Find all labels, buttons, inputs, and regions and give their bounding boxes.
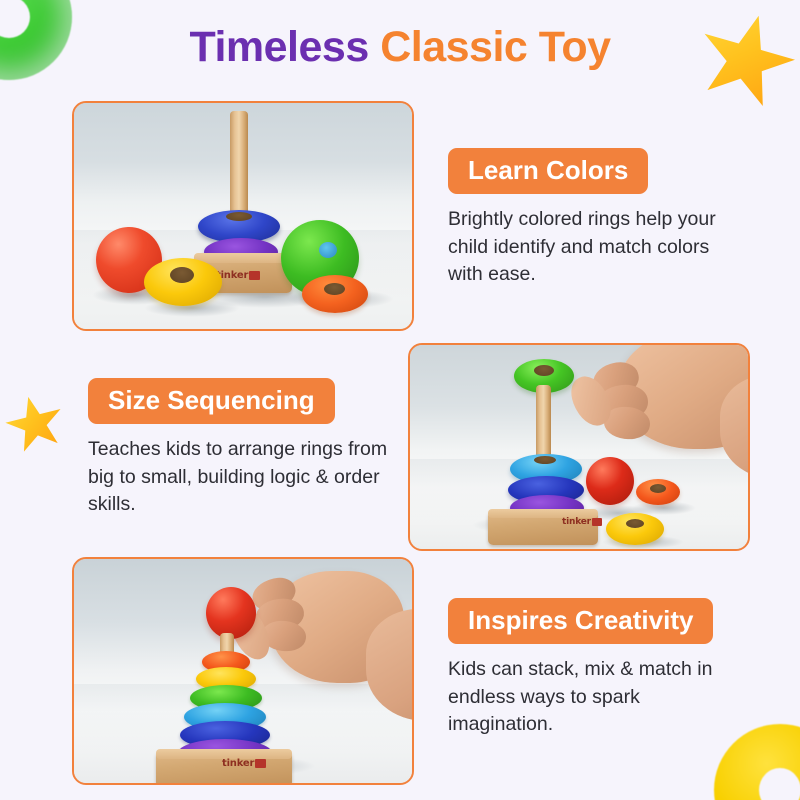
- ring-green-hole: [534, 365, 554, 376]
- brand-mark-icon: [592, 518, 602, 526]
- product-photo-size-sequencing: tinker: [408, 343, 750, 551]
- poster-canvas: Timeless Classic Toy tinker: [0, 0, 800, 800]
- brand-mark-icon: [255, 759, 266, 768]
- brand-logo: tinker: [222, 758, 266, 769]
- badge-size-sequencing: Size Sequencing: [88, 378, 335, 424]
- ring-yellow-hole: [170, 267, 194, 283]
- wooden-base-top: [194, 253, 292, 263]
- ring-blue-hole: [226, 212, 252, 221]
- photo-content: tinker: [74, 559, 412, 783]
- ring-light-blue-hole: [534, 456, 556, 464]
- desc-learn-colors: Brightly colored rings help your child i…: [448, 206, 748, 289]
- ball-red: [586, 457, 634, 505]
- photo-content: tinker: [74, 103, 412, 329]
- yellow-star-small-icon: [0, 390, 70, 458]
- brand-logo: tinker: [216, 270, 260, 281]
- title-part-purple: Timeless: [189, 23, 380, 71]
- wooden-peg: [230, 111, 248, 223]
- photo-content: tinker: [410, 345, 748, 549]
- badge-learn-colors: Learn Colors: [448, 148, 648, 194]
- brand-name: tinker: [222, 758, 254, 769]
- feature-size-sequencing: Size Sequencing Teaches kids to arrange …: [88, 378, 398, 519]
- brand-logo: tinker: [562, 517, 602, 527]
- feature-inspires-creativity: Inspires Creativity Kids can stack, mix …: [448, 598, 768, 739]
- ring-green-hole: [319, 242, 337, 258]
- title-part-orange: Classic Toy: [380, 23, 610, 71]
- ring-orange-hole: [324, 283, 345, 295]
- ring-yellow-loose: [606, 513, 664, 545]
- badge-inspires-creativity: Inspires Creativity: [448, 598, 713, 644]
- product-photo-learn-colors: tinker: [72, 101, 414, 331]
- product-photo-inspires-creativity: tinker: [72, 557, 414, 785]
- ring-orange-hole: [650, 484, 666, 493]
- feature-learn-colors: Learn Colors Brightly colored rings help…: [448, 148, 758, 289]
- brand-mark-icon: [249, 271, 260, 280]
- desc-inspires-creativity: Kids can stack, mix & match in endless w…: [448, 656, 748, 739]
- brand-name: tinker: [562, 517, 591, 527]
- desc-size-sequencing: Teaches kids to arrange rings from big t…: [88, 436, 396, 519]
- page-title: Timeless Classic Toy: [0, 26, 800, 69]
- ball-red-topper: [206, 587, 256, 639]
- ring-yellow-hole: [626, 519, 644, 528]
